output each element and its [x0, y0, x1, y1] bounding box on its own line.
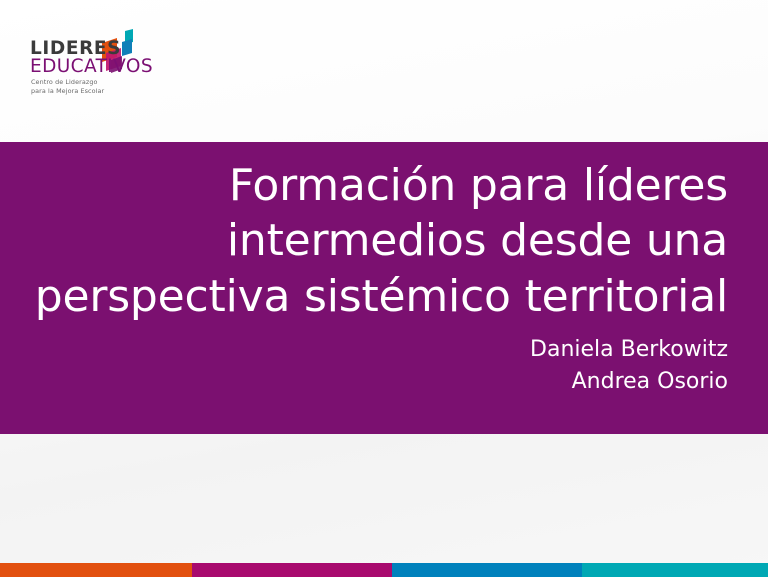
presentation-slide: LIDERES EDUCATIVOS Centro de Liderazgo p… [0, 0, 768, 577]
author-name-1: Daniela Berkowitz [8, 334, 728, 365]
slide-title-line-1: Formación para líderes [8, 158, 728, 213]
title-content: Formación para líderes intermedios desde… [8, 158, 728, 397]
footer-color-bar [0, 563, 768, 577]
logo-tagline: Centro de Liderazgo para la Mejora Escol… [31, 78, 104, 97]
author-name-2: Andrea Osorio [8, 366, 728, 397]
logo-wordmark-educativos: EDUCATIVOS [30, 58, 153, 77]
footer-segment-blue [392, 563, 582, 577]
logo-tagline-line2: para la Mejora Escolar [31, 87, 104, 96]
logo-tagline-line1: Centro de Liderazgo [31, 78, 104, 87]
footer-segment-teal [582, 563, 768, 577]
footer-segment-orange [0, 563, 192, 577]
brand-logo: LIDERES EDUCATIVOS Centro de Liderazgo p… [30, 30, 210, 92]
author-list: Daniela Berkowitz Andrea Osorio [8, 334, 728, 396]
footer-segment-magenta [192, 563, 392, 577]
title-band: Formación para líderes intermedios desde… [0, 142, 768, 434]
slide-title-line-3: perspectiva sistémico territorial [8, 269, 728, 324]
slide-title-line-2: intermedios desde una [8, 213, 728, 268]
